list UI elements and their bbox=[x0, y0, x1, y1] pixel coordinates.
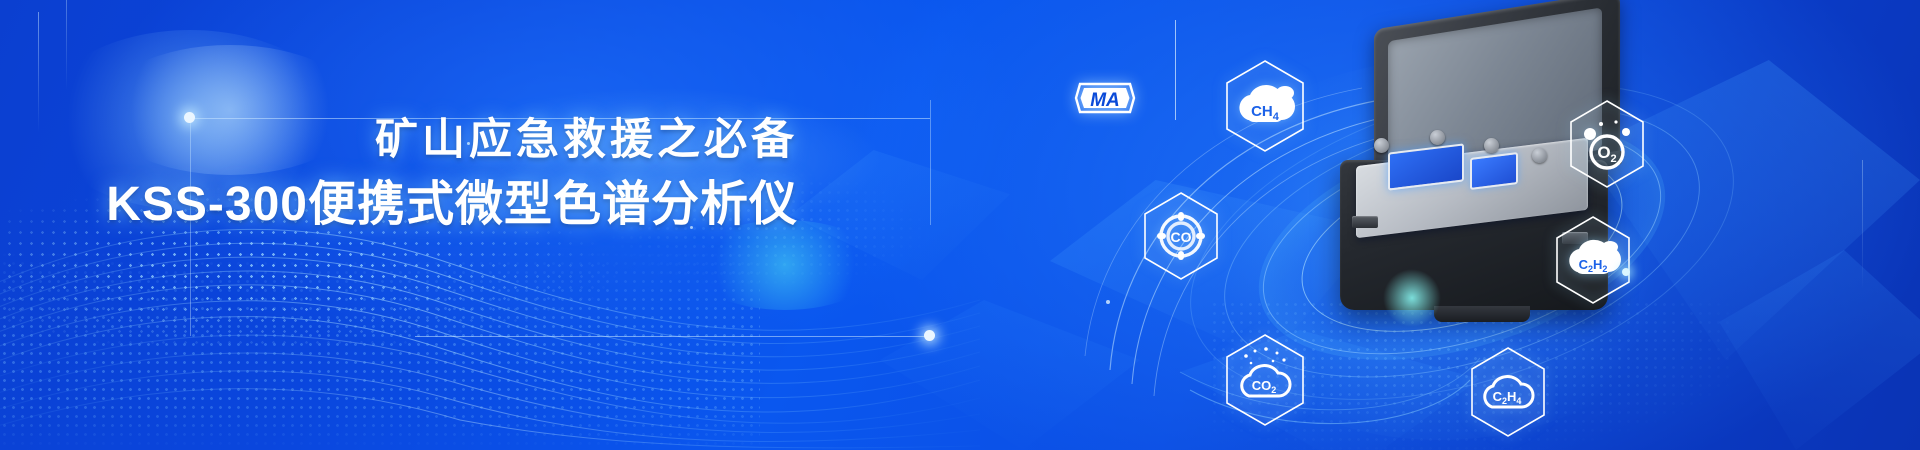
decor-streak-1 bbox=[38, 12, 39, 132]
gas-badge-c2h2: C2H2 bbox=[1552, 214, 1634, 306]
headline-line-1: 矿山应急救援之必备 bbox=[0, 118, 798, 163]
ma-label: MA bbox=[1090, 90, 1120, 111]
device-knob-2 bbox=[1430, 130, 1445, 145]
ma-certification-icon: MA bbox=[1072, 80, 1138, 116]
device-knob-1 bbox=[1374, 138, 1389, 153]
promo-banner: 矿山应急救援之必备 KSS-300便携式微型色谱分析仪 MA bbox=[0, 0, 1920, 450]
decor-streak-3 bbox=[1862, 160, 1863, 290]
device-handle bbox=[1434, 306, 1530, 322]
gas-label-co: CO bbox=[1171, 229, 1192, 245]
decor-line-bottom bbox=[415, 336, 930, 337]
headline-line-2: KSS-300便携式微型色谱分析仪 bbox=[0, 175, 798, 235]
gas-badge-co2: CO2 bbox=[1222, 332, 1308, 428]
device-knob-4 bbox=[1532, 148, 1547, 163]
gas-badge-ch4: CH4 bbox=[1222, 58, 1308, 154]
device-latch-left bbox=[1352, 216, 1378, 228]
decor-line-divider bbox=[1175, 20, 1176, 120]
headline-block: 矿山应急救援之必备 KSS-300便携式微型色谱分析仪 bbox=[0, 118, 940, 235]
decor-polygon-e bbox=[1700, 250, 1920, 450]
device-display-secondary bbox=[1470, 152, 1518, 190]
device-knob-3 bbox=[1484, 138, 1499, 153]
gas-badge-c2h4: C2H4 bbox=[1466, 345, 1550, 439]
decor-node-ring-right bbox=[1622, 268, 1630, 276]
decor-spark-cyan bbox=[1382, 268, 1442, 328]
decor-streak-2 bbox=[66, 0, 67, 90]
gas-badge-o2: O2 bbox=[1566, 98, 1648, 190]
gas-badge-co: CO bbox=[1140, 190, 1222, 282]
decor-sparkle-4 bbox=[1106, 300, 1110, 304]
decor-node-bottom-right bbox=[924, 330, 935, 341]
